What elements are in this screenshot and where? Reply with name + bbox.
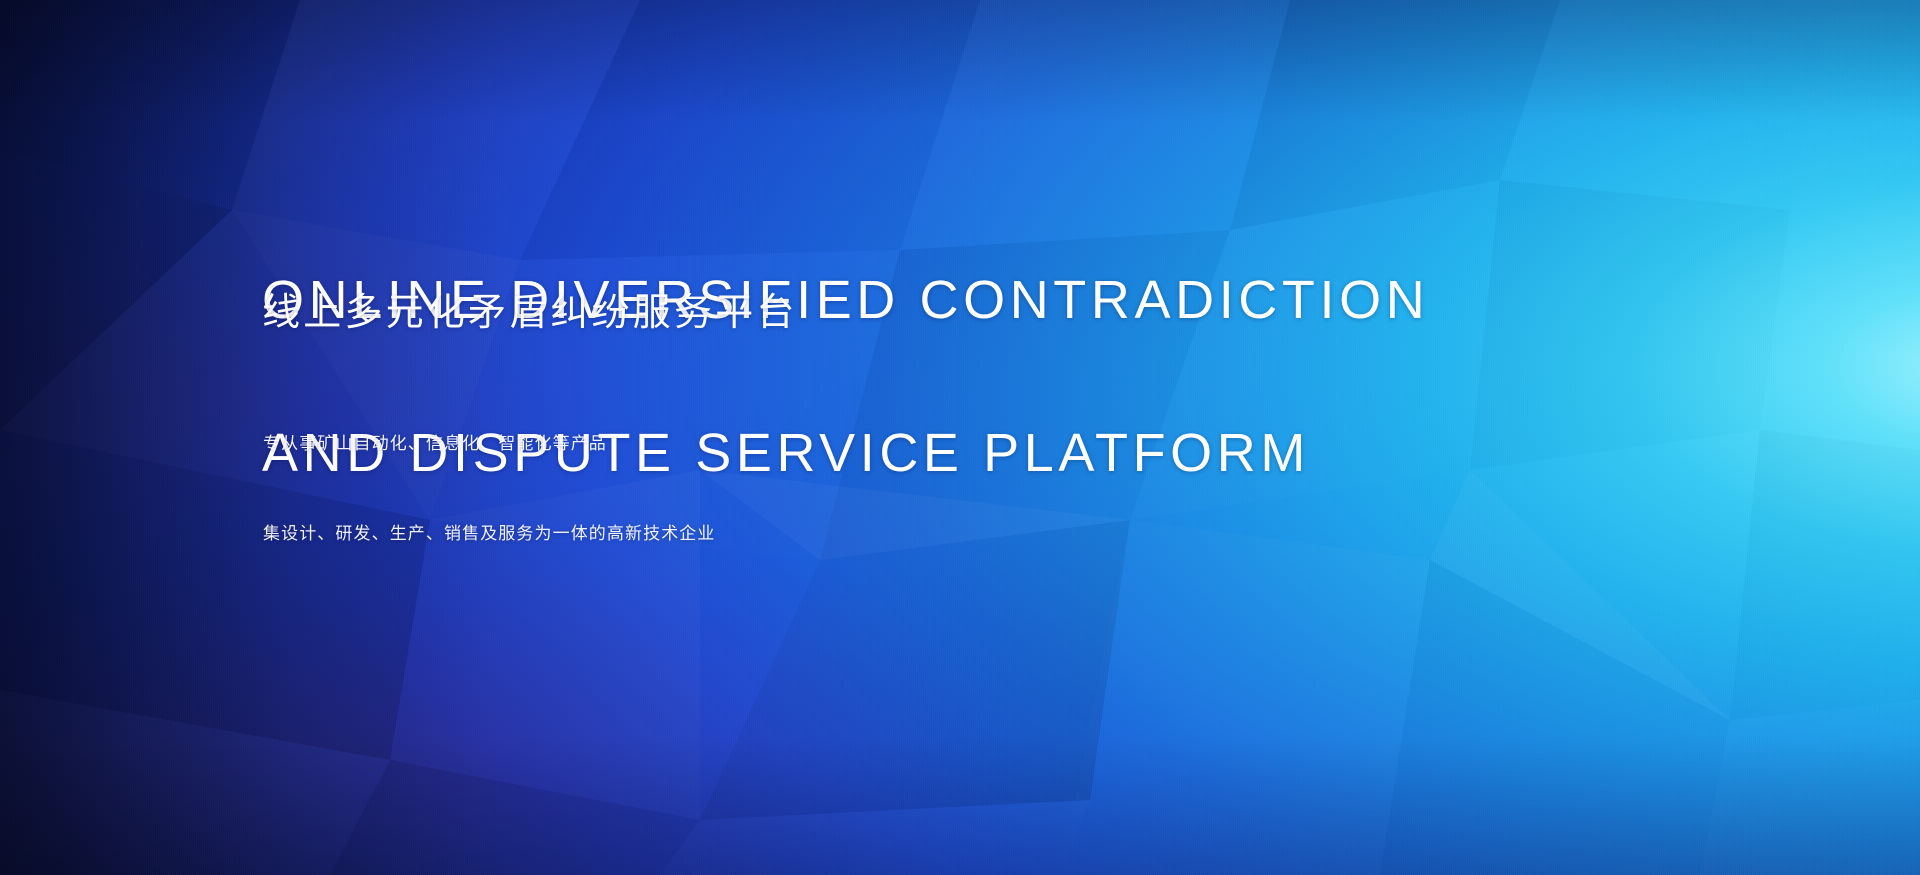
hero-description: 专从事矿山自动化、信息化、智能化等产品 集设计、研发、生产、销售及服务为一体的高… xyxy=(263,369,716,609)
hero-copy-block: ONLINE DIVERSIFIED CONTRADICTION AND DIS… xyxy=(262,0,1462,875)
hero-description-line-1: 专从事矿山自动化、信息化、智能化等产品 xyxy=(263,429,716,459)
hero-banner: ONLINE DIVERSIFIED CONTRADICTION AND DIS… xyxy=(0,0,1920,875)
hero-description-line-2: 集设计、研发、生产、销售及服务为一体的高新技术企业 xyxy=(263,519,716,549)
hero-subtitle: 线上多元化矛盾纠纷服务平台 xyxy=(262,290,798,336)
